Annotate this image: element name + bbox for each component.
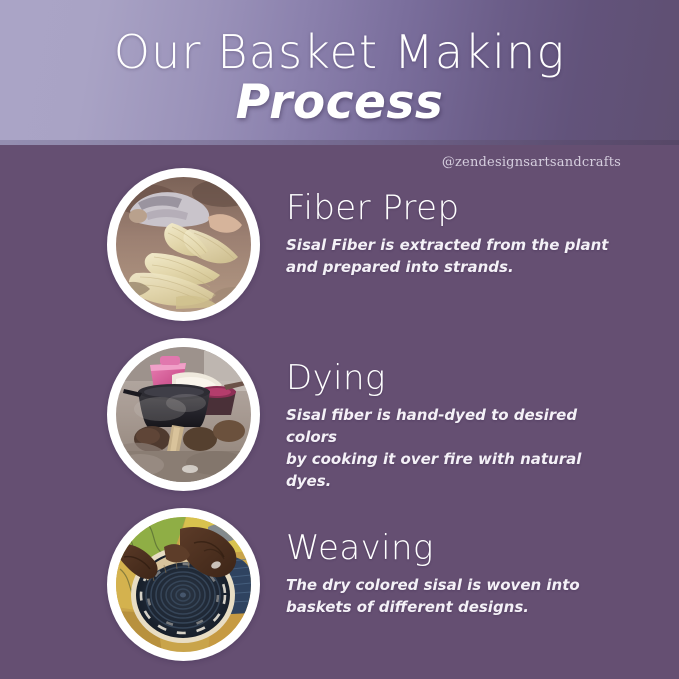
step-description: Sisal fiber is hand-dyed to desired colo… (286, 404, 616, 492)
poster-canvas: Our Basket Making Process @zendesignsart… (0, 0, 679, 679)
process-step: Fiber Prep Sisal Fiber is extracted from… (0, 168, 679, 338)
weaving-photo (116, 517, 251, 652)
dying-illustration (116, 347, 251, 482)
header-band: Our Basket Making Process (0, 0, 679, 145)
dying-photo (116, 347, 251, 482)
process-step: Weaving The dry colored sisal is woven i… (0, 508, 679, 678)
step-description-line: Sisal fiber is hand-dyed to desired colo… (286, 404, 616, 448)
process-step: Dying Sisal fiber is hand-dyed to desire… (0, 338, 679, 508)
step-image-frame (107, 168, 260, 321)
weaving-illustration (116, 517, 251, 652)
step-text-block: Dying Sisal fiber is hand-dyed to desire… (260, 338, 679, 492)
step-text-block: Weaving The dry colored sisal is woven i… (260, 508, 679, 618)
step-description-line: by cooking it over fire with natural dye… (286, 448, 616, 492)
title-line-two: Process (0, 76, 679, 129)
step-description: Sisal Fiber is extracted from the plant … (286, 234, 616, 278)
fiber-prep-illustration (116, 177, 251, 312)
step-text-block: Fiber Prep Sisal Fiber is extracted from… (260, 168, 679, 278)
title-line-one: Our Basket Making (0, 26, 679, 78)
step-description-line: The dry colored sisal is woven into (286, 574, 616, 596)
step-image-frame (107, 338, 260, 491)
process-steps-list: Fiber Prep Sisal Fiber is extracted from… (0, 168, 679, 678)
step-description-line: and prepared into strands. (286, 256, 616, 278)
poster-title: Our Basket Making Process (0, 0, 679, 129)
step-description-line: Sisal Fiber is extracted from the plant (286, 234, 616, 256)
fiber-prep-photo (116, 177, 251, 312)
step-description-line: baskets of different designs. (286, 596, 616, 618)
step-description: The dry colored sisal is woven into bask… (286, 574, 616, 618)
step-image-frame (107, 508, 260, 661)
step-heading: Fiber Prep (286, 188, 679, 228)
step-heading: Dying (286, 358, 679, 398)
step-heading: Weaving (286, 528, 679, 568)
